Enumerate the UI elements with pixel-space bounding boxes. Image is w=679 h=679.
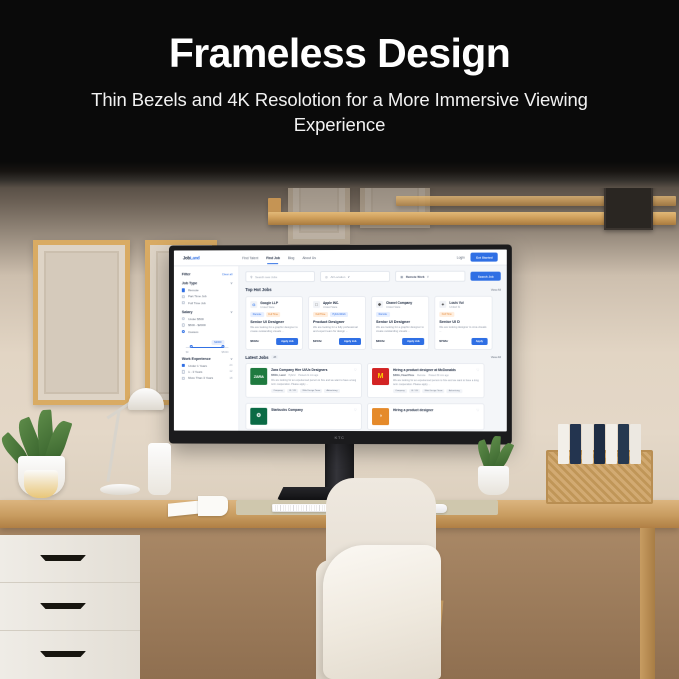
work-type-value: Remote Work <box>406 274 425 278</box>
latest-job-tag: UI / UX <box>409 389 420 393</box>
filter-option-label: Full Time Job <box>188 301 206 305</box>
drawer-handle[interactable] <box>40 555 86 561</box>
company-logo-icon: ✪ <box>250 408 267 425</box>
company-location: United State <box>323 306 337 309</box>
job-title: Senior UI Designer <box>250 320 298 324</box>
top-hot-jobs-list: G Google LLP United State Remote Ful <box>245 295 500 349</box>
filter-option-remote[interactable]: Remote <box>182 288 233 292</box>
job-card-company: ❉ Chanel Company United State <box>376 301 424 309</box>
job-card-company:  Apple INC. United State <box>313 301 361 309</box>
latest-job-time: Posted 21 min ago <box>298 374 318 377</box>
top-hot-jobs-view-all[interactable]: View All <box>491 287 501 291</box>
job-description: We are looking for a graphic designer to… <box>250 326 298 334</box>
login-link[interactable]: Login <box>457 255 465 259</box>
job-card-footer: $60/hr Apply Job <box>250 338 298 345</box>
job-tag: Full Time <box>313 312 328 317</box>
slider-handle-max[interactable] <box>221 345 224 348</box>
filter-group-salary-header[interactable]: Salary v <box>182 310 233 314</box>
filter-group-job-type-label: Job Type <box>182 281 197 285</box>
job-title: Senior UI Designer <box>376 320 424 324</box>
chevron-down-icon: v <box>427 274 429 278</box>
job-pay: $60/hr <box>250 339 259 343</box>
latest-job-tag: Advertising <box>324 389 339 393</box>
job-card-footer: $70/hr Apply <box>439 337 487 344</box>
latest-job-type: Hybrid <box>288 374 295 377</box>
filter-option-count: 24 <box>229 364 232 367</box>
slider-handle-min[interactable] <box>190 345 193 348</box>
apply-job-button[interactable]: Apply Job <box>339 337 361 344</box>
banner-subtitle: Thin Bezels and 4K Resolotion for a More… <box>70 88 610 137</box>
app-navbar: JobLand Find Talent Find Job Blog About … <box>174 250 507 267</box>
job-tag: Remote <box>376 312 390 317</box>
monitor-brand-logo: KTC <box>334 435 344 440</box>
filter-option-label: Remote <box>188 288 198 292</box>
filter-option-full-time[interactable]: Full Time Job <box>182 301 233 305</box>
company-logo-icon: ✦ <box>439 301 446 308</box>
logo-accent-text: Land <box>190 255 200 260</box>
company-name: Louis Vui <box>449 301 463 305</box>
latest-job-title: Hiring a product designer at McDonalds <box>393 368 456 372</box>
job-tag: Remote <box>250 312 263 317</box>
search-icon: ⚲ <box>250 275 252 279</box>
chevron-down-icon: v <box>348 275 350 279</box>
filter-title: Filter <box>182 272 191 276</box>
company-location: United State <box>386 306 400 309</box>
latest-job-pay: $50/hr, Level <box>271 374 285 377</box>
filter-option-1-3-years[interactable]: 1 - 3 Years 12 <box>182 370 233 374</box>
work-type-select[interactable]: ▦ Remote Work v <box>395 271 466 282</box>
radio-icon[interactable] <box>182 324 185 327</box>
slider-fill <box>192 347 223 348</box>
filter-option-part-time[interactable]: Part Time Job <box>182 295 233 299</box>
radio-icon[interactable] <box>182 330 185 333</box>
latest-job-tag: Company <box>271 389 285 393</box>
search-bar: ⚲ Search new Jobs ◎ All Location v ▦ <box>245 271 500 283</box>
company-logo-icon: ◑ <box>372 408 389 425</box>
nav-link-blog[interactable]: Blog <box>288 256 295 260</box>
chair-throw-blanket <box>323 545 441 679</box>
latest-job-tag: Web Design Team <box>300 389 322 393</box>
latest-job-card[interactable]: ◑ Hiring a product designer ♡ <box>367 403 485 430</box>
latest-job-tags: Company UI / UX Web Design Team Advertis… <box>271 389 357 393</box>
checkbox-icon[interactable] <box>182 295 185 298</box>
company-location: United State <box>260 306 274 309</box>
filter-option-custom[interactable]: Custom <box>182 330 233 334</box>
latest-job-description: We are looking for an experienced person… <box>271 379 357 387</box>
job-card-footer: $30/hr Apply Job <box>376 337 424 344</box>
job-card-tags: Remote Full Time <box>250 312 298 317</box>
latest-job-card[interactable]: M Hiring a product designer at McDonalds… <box>367 363 485 398</box>
company-name: Chanel Company <box>386 301 412 305</box>
drawer-handle[interactable] <box>40 603 86 609</box>
job-description: We are looking designer to crea visuals … <box>439 326 487 334</box>
nav-link-find-job[interactable]: Find Job <box>266 256 280 260</box>
filter-header: Filter Clear all <box>182 272 233 276</box>
job-card[interactable]: G Google LLP United State Remote Ful <box>245 296 303 350</box>
book-spine <box>582 424 593 464</box>
chevron-down-icon: v <box>231 281 233 285</box>
filter-group-job-type-header[interactable]: Job Type v <box>182 281 233 285</box>
latest-job-meta: $30/hr, Fixed Price Remote Posted 30 min… <box>393 374 479 377</box>
drawer-handle[interactable] <box>40 651 86 657</box>
job-tag: Full Time <box>439 312 454 317</box>
slider-min-label: $0 <box>186 351 189 354</box>
filter-group-salary-label: Salary <box>182 310 193 314</box>
job-title: Senior UI D <box>439 320 487 324</box>
product-banner-image: JobLand Find Talent Find Job Blog About … <box>0 0 679 679</box>
book-spine <box>594 424 605 464</box>
latest-job-title: Starbucks Company <box>271 408 303 412</box>
latest-job-tag: Web Design Team <box>422 389 444 393</box>
filter-group-work-experience-label: Work Experience <box>182 357 211 361</box>
plant-pot-right <box>478 466 509 495</box>
filter-option-500-2000[interactable]: $500 - $2000 <box>182 323 233 327</box>
grid-icon: ▦ <box>400 274 403 278</box>
slider-max-label: $5000 <box>222 351 229 354</box>
job-search-input[interactable]: ⚲ Search new Jobs <box>245 271 315 282</box>
nav-link-about-us[interactable]: About Us <box>302 256 316 260</box>
slider-value-bubble: $2000 <box>211 340 224 345</box>
job-title: Product Designer <box>313 320 361 324</box>
slider-labels: $0 $5000 <box>186 351 229 354</box>
book-spine <box>606 424 617 464</box>
latest-jobs-list: ZARA Zara Company Hire UI/Ux Designers ♡… <box>245 363 500 430</box>
filter-option-more-than-3-years[interactable]: More Than 3 Years 18 <box>182 376 233 380</box>
latest-job-pay: $30/hr, Fixed Price <box>393 374 414 377</box>
apply-job-button[interactable]: Apply <box>471 337 487 344</box>
filter-option-label: Custom <box>188 330 198 334</box>
latest-job-meta: $50/hr, Level Hybrid Posted 21 min ago <box>271 374 357 377</box>
checkbox-icon[interactable] <box>182 301 185 304</box>
job-pay: $30/hr <box>376 339 385 343</box>
latest-job-title: Zara Company Hire UI/Ux Designers <box>271 368 327 372</box>
location-select[interactable]: ◎ All Location v <box>320 271 390 282</box>
nav-link-find-talent[interactable]: Find Talent <box>242 256 258 260</box>
filter-option-label: 1 - 3 Years <box>188 370 202 374</box>
latest-job-tags: Company UI / UX Web Design Team Advertis… <box>393 389 479 393</box>
latest-job-time: Posted 30 min ago <box>429 374 449 377</box>
job-pay: $70/hr <box>439 339 448 343</box>
top-hot-jobs-title: Top Hot Jobs <box>245 287 271 292</box>
job-card-tags: Full Time Hybrid Work <box>313 312 361 317</box>
book-spine <box>630 424 641 464</box>
latest-jobs-count-badge: 28 <box>271 355 278 359</box>
latest-job-tag: Company <box>393 389 407 393</box>
navbar-links: Find Talent Find Job Blog About Us <box>242 256 316 260</box>
apply-job-button[interactable]: Apply Job <box>277 338 298 345</box>
job-card-tags: Full Time <box>439 312 487 317</box>
drinking-glass <box>24 470 58 498</box>
bookmark-icon[interactable]: ♡ <box>354 368 357 372</box>
ceramic-vase <box>148 443 171 495</box>
filter-option-count: 18 <box>229 377 232 380</box>
get-started-button[interactable]: Get Started <box>471 253 498 262</box>
company-name: Apple INC. <box>323 301 339 305</box>
wall-picture-frame-large <box>33 240 130 405</box>
company-name: Google LLP <box>260 301 278 305</box>
job-card-footer: $15/hr Apply Job <box>313 337 361 344</box>
job-pay: $15/hr <box>313 339 322 343</box>
company-logo-icon: M <box>372 368 389 385</box>
bookmark-icon[interactable]: ♡ <box>476 408 479 412</box>
navbar-actions: Login Get Started <box>457 253 498 262</box>
job-card-company: ✦ Louis Vui United St <box>439 300 487 308</box>
company-logo-icon: G <box>250 301 257 308</box>
company-logo-icon:  <box>313 301 320 308</box>
bookmark-icon[interactable]: ♡ <box>476 368 479 372</box>
chevron-down-icon: v <box>231 357 233 361</box>
checkbox-icon[interactable] <box>182 364 185 367</box>
main-content: ⚲ Search new Jobs ◎ All Location v ▦ <box>239 266 506 432</box>
jobland-web-app: JobLand Find Talent Find Job Blog About … <box>174 250 507 432</box>
filter-option-label: Under $500 <box>188 317 204 321</box>
apply-job-button[interactable]: Apply Job <box>403 337 425 344</box>
job-description: We are looking for a graphic designer to… <box>376 326 424 334</box>
book-spine <box>558 424 569 464</box>
location-pin-icon: ◎ <box>325 275 328 279</box>
salary-range-slider[interactable]: $2000 $0 $5000 <box>184 340 231 352</box>
clear-all-link[interactable]: Clear all <box>222 272 233 276</box>
filter-option-under-500[interactable]: Under $500 <box>182 317 233 321</box>
latest-job-card[interactable]: ✪ Starbucks Company ♡ <box>245 403 362 430</box>
job-tag: Hybrid Work <box>330 312 348 317</box>
latest-job-tag: Advertising <box>447 390 462 394</box>
job-card[interactable]:  Apple INC. United State Full Time <box>308 296 366 350</box>
job-tag: Full Time <box>266 312 281 317</box>
filter-option-under-1-year[interactable]: Under 1 Years 24 <box>182 363 233 367</box>
desk-lamp-base <box>100 484 140 495</box>
latest-job-tag: UI / UX <box>287 389 298 393</box>
job-search-placeholder: Search new Jobs <box>255 275 277 279</box>
job-card[interactable]: ✦ Louis Vui United St Full Time <box>434 295 492 349</box>
company-logo-icon: ZARA <box>250 368 267 385</box>
filter-group-work-experience-header[interactable]: Work Experience v <box>182 357 233 361</box>
checkbox-icon[interactable] <box>182 370 185 373</box>
company-location: United St <box>449 306 460 309</box>
monitor-bezel-bottom: KTC <box>169 431 512 445</box>
search-job-button[interactable]: Search Job <box>471 271 501 281</box>
latest-job-type: Remote <box>417 374 425 377</box>
latest-jobs-view-all[interactable]: View All <box>491 355 501 359</box>
job-card-tags: Remote <box>376 312 424 317</box>
banner-title: Frameless Design <box>169 32 510 75</box>
latest-job-card[interactable]: ZARA Zara Company Hire UI/Ux Designers ♡… <box>245 363 362 398</box>
desk-leg-right <box>640 528 655 679</box>
latest-job-description: We are looking for an experienced person… <box>393 379 479 387</box>
open-book <box>168 496 230 518</box>
app-body: Filter Clear all Job Type v Remote <box>174 266 507 432</box>
job-card-company: G Google LLP United State <box>250 301 298 309</box>
top-hot-jobs-header: Top Hot Jobs View All <box>245 287 500 292</box>
latest-jobs-title: Latest Jobs <box>245 354 268 359</box>
filter-option-label: Under 1 Years <box>188 363 207 367</box>
job-card[interactable]: ❉ Chanel Company United State Remote <box>371 296 429 350</box>
checkbox-icon[interactable] <box>182 289 185 292</box>
drawer-unit <box>0 535 140 679</box>
book-spine <box>570 424 581 464</box>
filter-option-label: $500 - $2000 <box>188 323 206 327</box>
filter-option-label: Part Time Job <box>188 295 206 299</box>
banner-gradient-fade <box>0 162 679 188</box>
filter-sidebar: Filter Clear all Job Type v Remote <box>174 266 239 430</box>
book-spine <box>618 424 629 464</box>
checkbox-icon[interactable] <box>182 376 185 379</box>
monitor-device: JobLand Find Talent Find Job Blog About … <box>169 244 512 444</box>
app-logo[interactable]: JobLand <box>183 255 200 260</box>
latest-jobs-header: Latest Jobs 28 View All <box>245 354 500 359</box>
company-logo-icon: ❉ <box>376 301 383 308</box>
location-value: All Location <box>330 275 345 279</box>
latest-job-title: Hiring a product designer <box>393 408 433 412</box>
filter-option-label: More Than 3 Years <box>188 376 213 380</box>
job-description: We are looking for a fully professional … <box>313 326 361 334</box>
chevron-down-icon: v <box>231 310 233 314</box>
header-banner: Frameless Design Thin Bezels and 4K Reso… <box>0 0 679 162</box>
bookmark-icon[interactable]: ♡ <box>354 408 357 412</box>
radio-icon[interactable] <box>182 317 185 320</box>
filter-option-count: 12 <box>229 370 232 373</box>
monitor-screen: JobLand Find Talent Find Job Blog About … <box>174 250 507 432</box>
